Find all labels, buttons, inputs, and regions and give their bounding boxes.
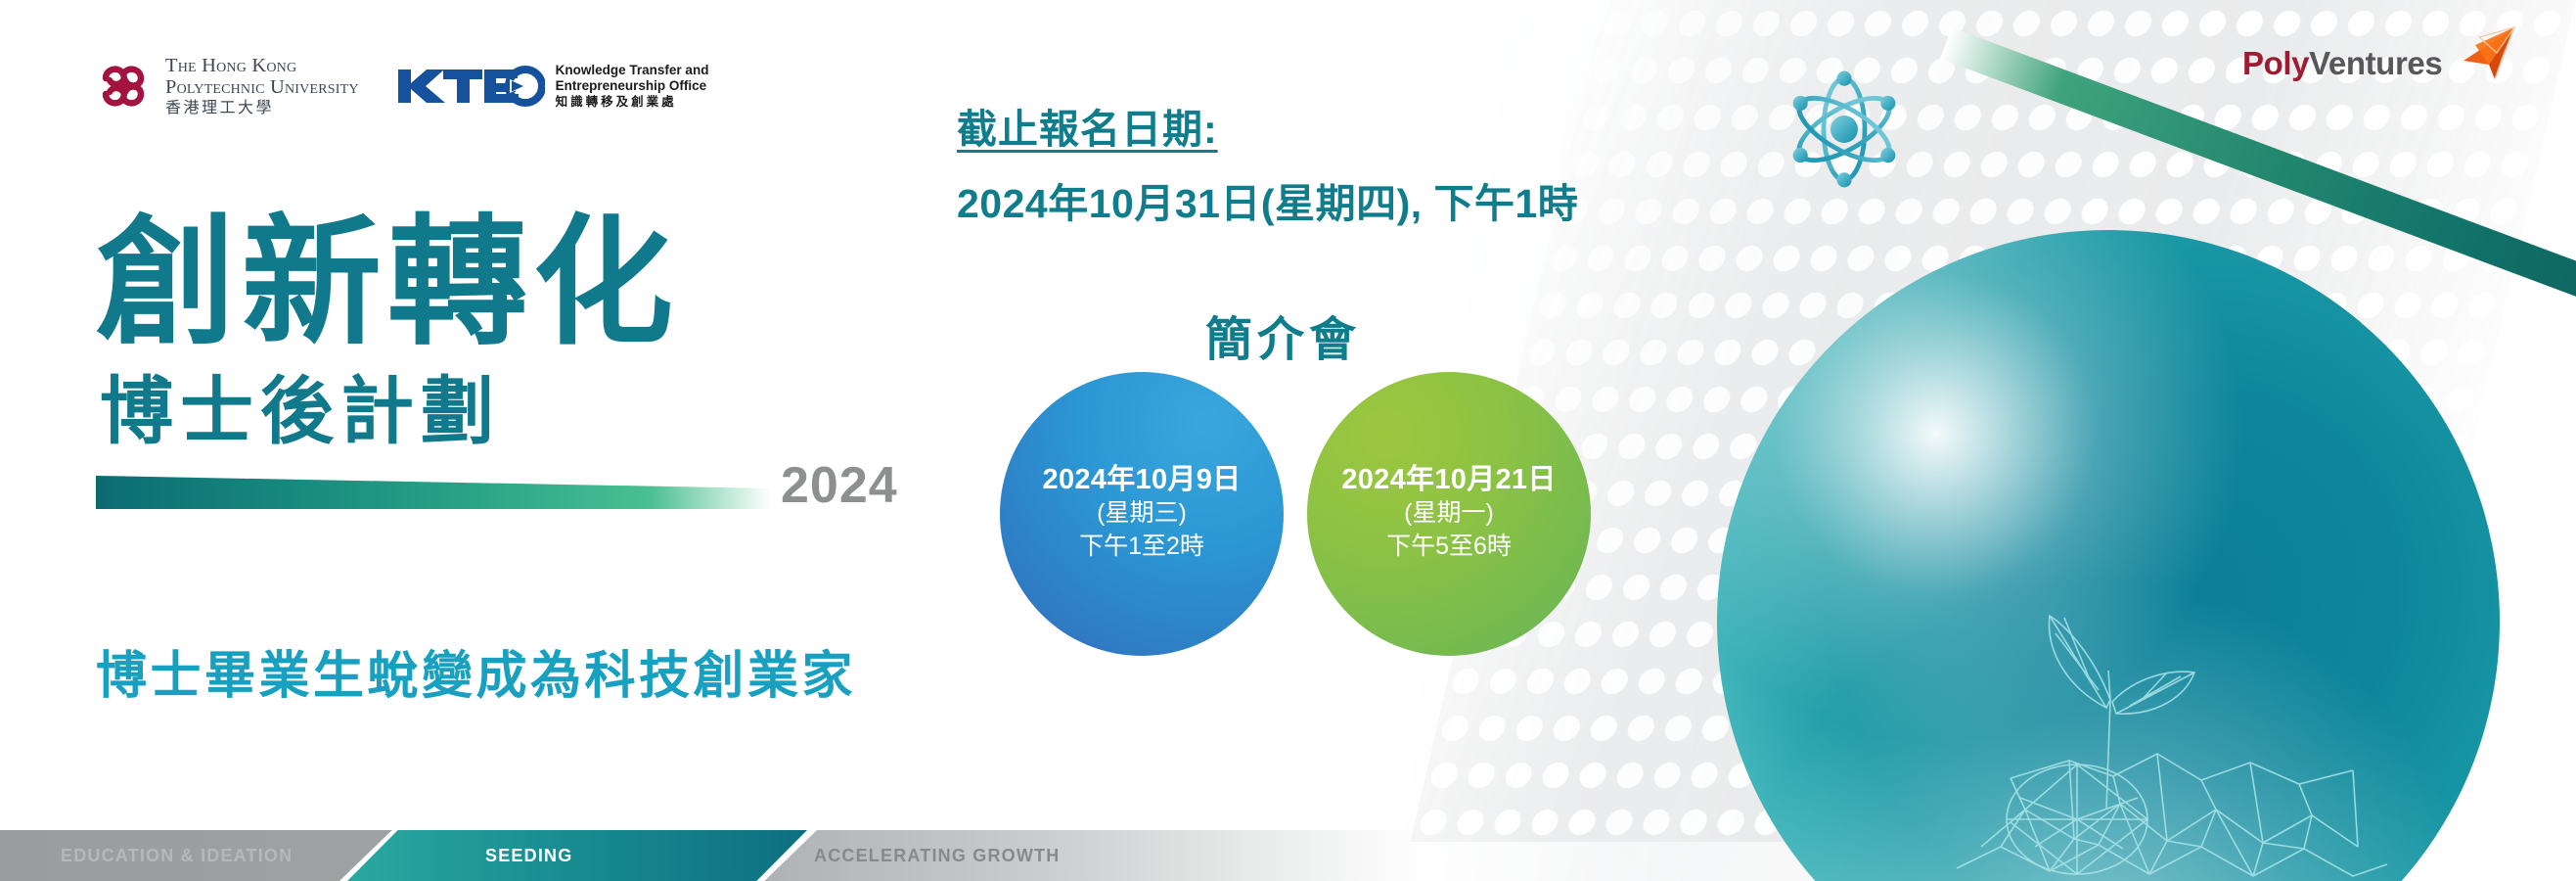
paper-plane-icon: [2446, 23, 2520, 82]
stage-active-highlight: [347, 830, 807, 881]
polyu-knot-logo-icon: [93, 58, 154, 115]
kteo-logo: Knowledge Transfer and Entrepreneurship …: [396, 63, 709, 110]
polyventures-logo: Poly Ventures: [2242, 47, 2520, 82]
session-circle-2: 2024年10月21日 (星期一) 下午5至6時: [1307, 372, 1591, 656]
year-label: 2024: [781, 456, 898, 515]
session-circles: 2024年10月9日 (星期三) 下午1至2時 2024年10月21日 (星期一…: [1000, 372, 1591, 656]
tagline: 博士畢業生蛻變成為科技創業家: [96, 634, 856, 708]
wireframe-sprout-icon: [1864, 553, 2412, 881]
year-row: 2024: [96, 452, 937, 517]
polyu-logo: The Hong Kong Polytechnic University 香港理…: [93, 55, 359, 117]
stage-label-accelerating: ACCELERATING GROWTH: [814, 830, 1060, 881]
polyu-name-line2: Polytechnic University: [165, 76, 359, 98]
session-time: 下午5至6時: [1386, 531, 1512, 564]
session-date: 2024年10月21日: [1341, 464, 1556, 495]
deadline-value: 2024年10月31日(星期四), 下午1時: [957, 170, 1578, 229]
session-date: 2024年10月9日: [1043, 464, 1242, 495]
polyventures-ventures-text: Ventures: [2309, 47, 2442, 79]
promotional-banner: The Hong Kong Polytechnic University 香港理…: [0, 0, 2576, 881]
session-weekday: (星期三): [1097, 497, 1187, 531]
deadline-label: 截止報名日期:: [957, 96, 1578, 155]
headline-block: 創新轉化 博士後計劃 2024: [96, 213, 937, 517]
page-subtitle: 博士後計劃: [100, 375, 937, 448]
partner-logos: The Hong Kong Polytechnic University 香港理…: [93, 55, 708, 117]
page-title: 創新轉化: [96, 213, 937, 353]
atom-icon: [1776, 61, 1913, 198]
gradient-wedge-icon: [96, 476, 771, 509]
polyventures-poly-text: Poly: [2242, 47, 2309, 79]
polyu-name-line1: The Hong Kong: [165, 55, 359, 76]
kteo-name-chinese: 知識轉移及創業處: [556, 95, 709, 110]
kteo-wordmark-icon: [396, 64, 545, 109]
session-heading: 簡介會: [1205, 301, 1361, 369]
stage-label-education: EDUCATION & IDEATION: [61, 830, 293, 881]
kteo-name-line2: Entrepreneurship Office: [556, 78, 709, 94]
polyu-name-chinese: 香港理工大學: [165, 100, 359, 116]
session-circle-1: 2024年10月9日 (星期三) 下午1至2時: [1000, 372, 1284, 656]
session-time: 下午1至2時: [1079, 531, 1204, 564]
stage-bar: EDUCATION & IDEATION SEEDING ACCELERATIN…: [0, 830, 1421, 881]
session-weekday: (星期一): [1404, 497, 1494, 531]
stage-label-seeding: SEEDING: [485, 830, 572, 881]
deadline-block: 截止報名日期: 2024年10月31日(星期四), 下午1時: [957, 96, 1578, 229]
kteo-name-line1: Knowledge Transfer and: [556, 63, 709, 78]
